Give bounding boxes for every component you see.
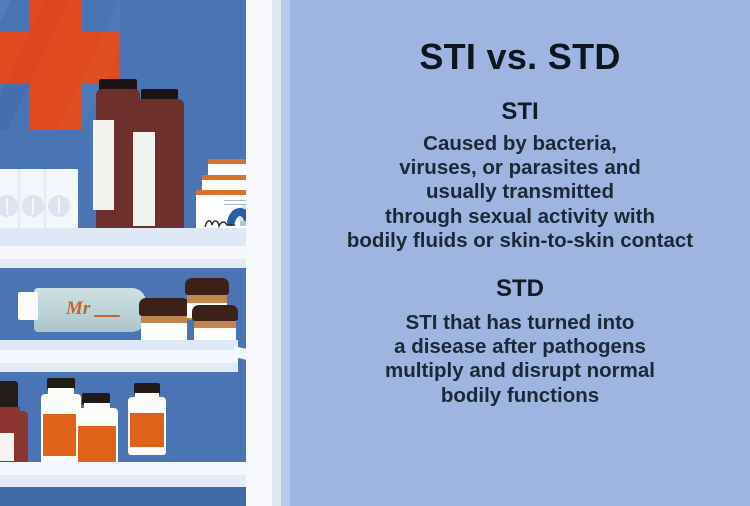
tube-script-text: Mr: [66, 298, 90, 320]
text-panel: STI vs. STD STI Caused by bacteria, viru…: [290, 0, 750, 506]
bottle-label: [130, 413, 164, 447]
cabinet-frame-post: [246, 0, 272, 506]
brown-glass-bottle-small: [137, 89, 184, 231]
bottle-label: [43, 414, 79, 456]
orange-label-bottle-small: [128, 383, 166, 455]
shelf-front-face: [0, 363, 238, 372]
jar-lid: [185, 278, 229, 295]
jar-label: [141, 323, 187, 340]
infographic-sti-vs-std: Mr: [0, 0, 750, 506]
bottle-label: [133, 132, 155, 226]
body-line: bodily functions: [320, 384, 720, 408]
section-body-sti: Caused by bacteria, viruses, or parasite…: [320, 132, 720, 253]
body-line: Caused by bacteria,: [320, 132, 720, 156]
body-line: viruses, or parasites and: [320, 156, 720, 180]
shelf-surface: [0, 340, 238, 350]
section-heading-std: STD: [290, 275, 750, 303]
cream-jar-small: [194, 305, 236, 345]
tube-script-flourish: [94, 315, 120, 317]
body-line: multiply and disrupt normal: [320, 359, 720, 383]
cabinet-frame-shadow: [272, 0, 281, 506]
orange-label-bottle-large: [41, 378, 81, 464]
section-heading-sti: STI: [290, 98, 750, 126]
body-line: a disease after pathogens: [320, 335, 720, 359]
box-seam: [18, 169, 20, 231]
box-motif-icon: [22, 195, 44, 217]
jar-lid: [139, 298, 189, 316]
body-line: STI that has turned into: [320, 311, 720, 335]
cabinet-lower-band: [0, 487, 246, 506]
dropper-label: [0, 433, 14, 461]
page-title: STI vs. STD: [290, 0, 750, 78]
cream-jar-large: [141, 298, 187, 342]
section-std: STD STI that has turned into a disease a…: [290, 275, 750, 408]
jar-lid: [192, 305, 238, 321]
bottle-label: [78, 426, 116, 466]
shelf-surface: [0, 228, 252, 246]
orange-label-bottle-medium: [76, 393, 118, 472]
section-body-std: STI that has turned into a disease after…: [320, 311, 720, 408]
cabinet-panel-edge: [281, 0, 290, 506]
box-seam: [44, 169, 46, 231]
body-line: bodily fluids or skin-to-skin contact: [320, 229, 720, 253]
box-motif-icon: [48, 195, 70, 217]
shelf-board: [0, 462, 262, 475]
ointment-tube: Mr: [18, 288, 130, 332]
dropper-bottle: [0, 381, 28, 463]
illustration-panel: Mr: [0, 0, 290, 506]
white-medicine-boxes: [0, 169, 78, 231]
shelf-front-face: [0, 475, 262, 487]
section-sti: STI Caused by bacteria, viruses, or para…: [290, 98, 750, 253]
shelf-board: [0, 246, 252, 259]
body-line: usually transmitted: [320, 180, 720, 204]
box-motif-icon: [0, 195, 18, 217]
shelf-board: [0, 350, 238, 363]
body-line: through sexual activity with: [320, 205, 720, 229]
bottle-label: [93, 120, 114, 210]
shelf-front-face: [0, 259, 252, 268]
tube-cap: [18, 292, 38, 320]
